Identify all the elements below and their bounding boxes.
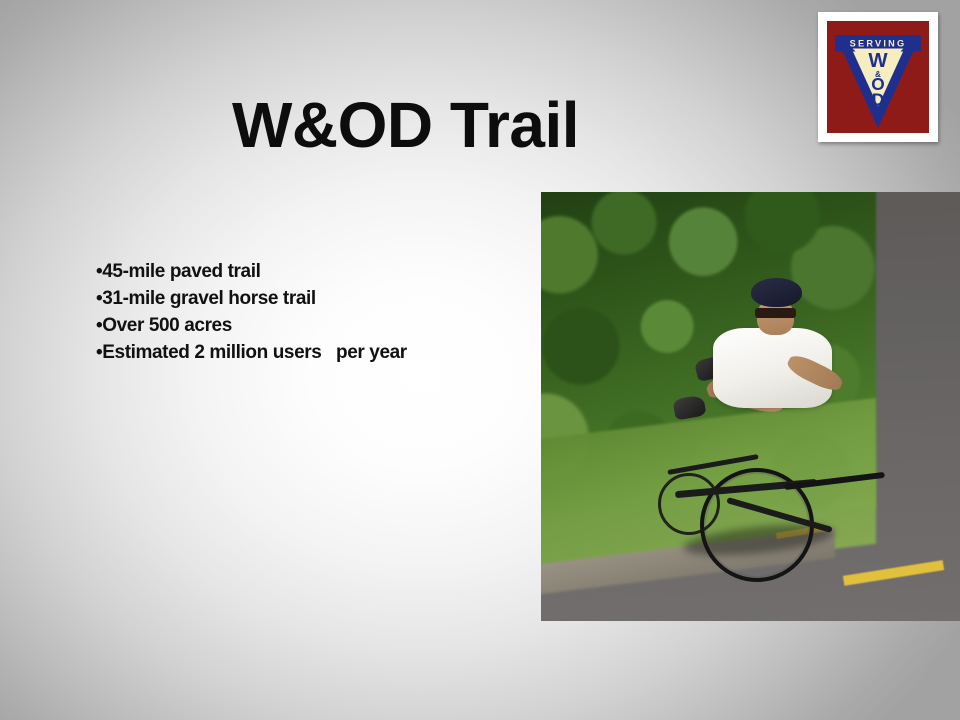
list-item-label: Estimated 2 million users per year — [102, 342, 407, 363]
list-item-label: 31-mile gravel horse trail — [102, 288, 315, 309]
photo-rider-shoe — [673, 395, 707, 421]
list-item-label: Over 500 acres — [102, 315, 232, 336]
logo-monogram-d: D — [872, 90, 885, 110]
list-item: •45-mile paved trail — [96, 258, 516, 285]
sunglasses-icon — [755, 308, 795, 318]
logo-top-text: SERVING — [850, 38, 907, 48]
list-item: •Over 500 acres — [96, 312, 516, 339]
bullet-list: •45-mile paved trail •31-mile gravel hor… — [96, 258, 516, 366]
photo-rider-helmet — [751, 278, 801, 307]
list-item: •31-mile gravel horse trail — [96, 285, 516, 312]
wod-trail-logo: SERVING NORTHERN VIRGINIA W & O D — [818, 12, 938, 142]
photo-rider — [667, 278, 860, 544]
list-item-label: 45-mile paved trail — [102, 261, 260, 282]
page-title: W&OD Trail — [232, 92, 579, 159]
list-item: •Estimated 2 million users per year — [96, 339, 516, 366]
logo-plate: SERVING NORTHERN VIRGINIA W & O D — [827, 21, 929, 133]
trail-photo — [541, 192, 960, 621]
logo-artwork: SERVING NORTHERN VIRGINIA W & O D — [827, 21, 929, 133]
slide-canvas: W&OD Trail •45-mile paved trail •31-mile… — [0, 0, 960, 720]
logo-monogram-w: W — [868, 50, 888, 72]
